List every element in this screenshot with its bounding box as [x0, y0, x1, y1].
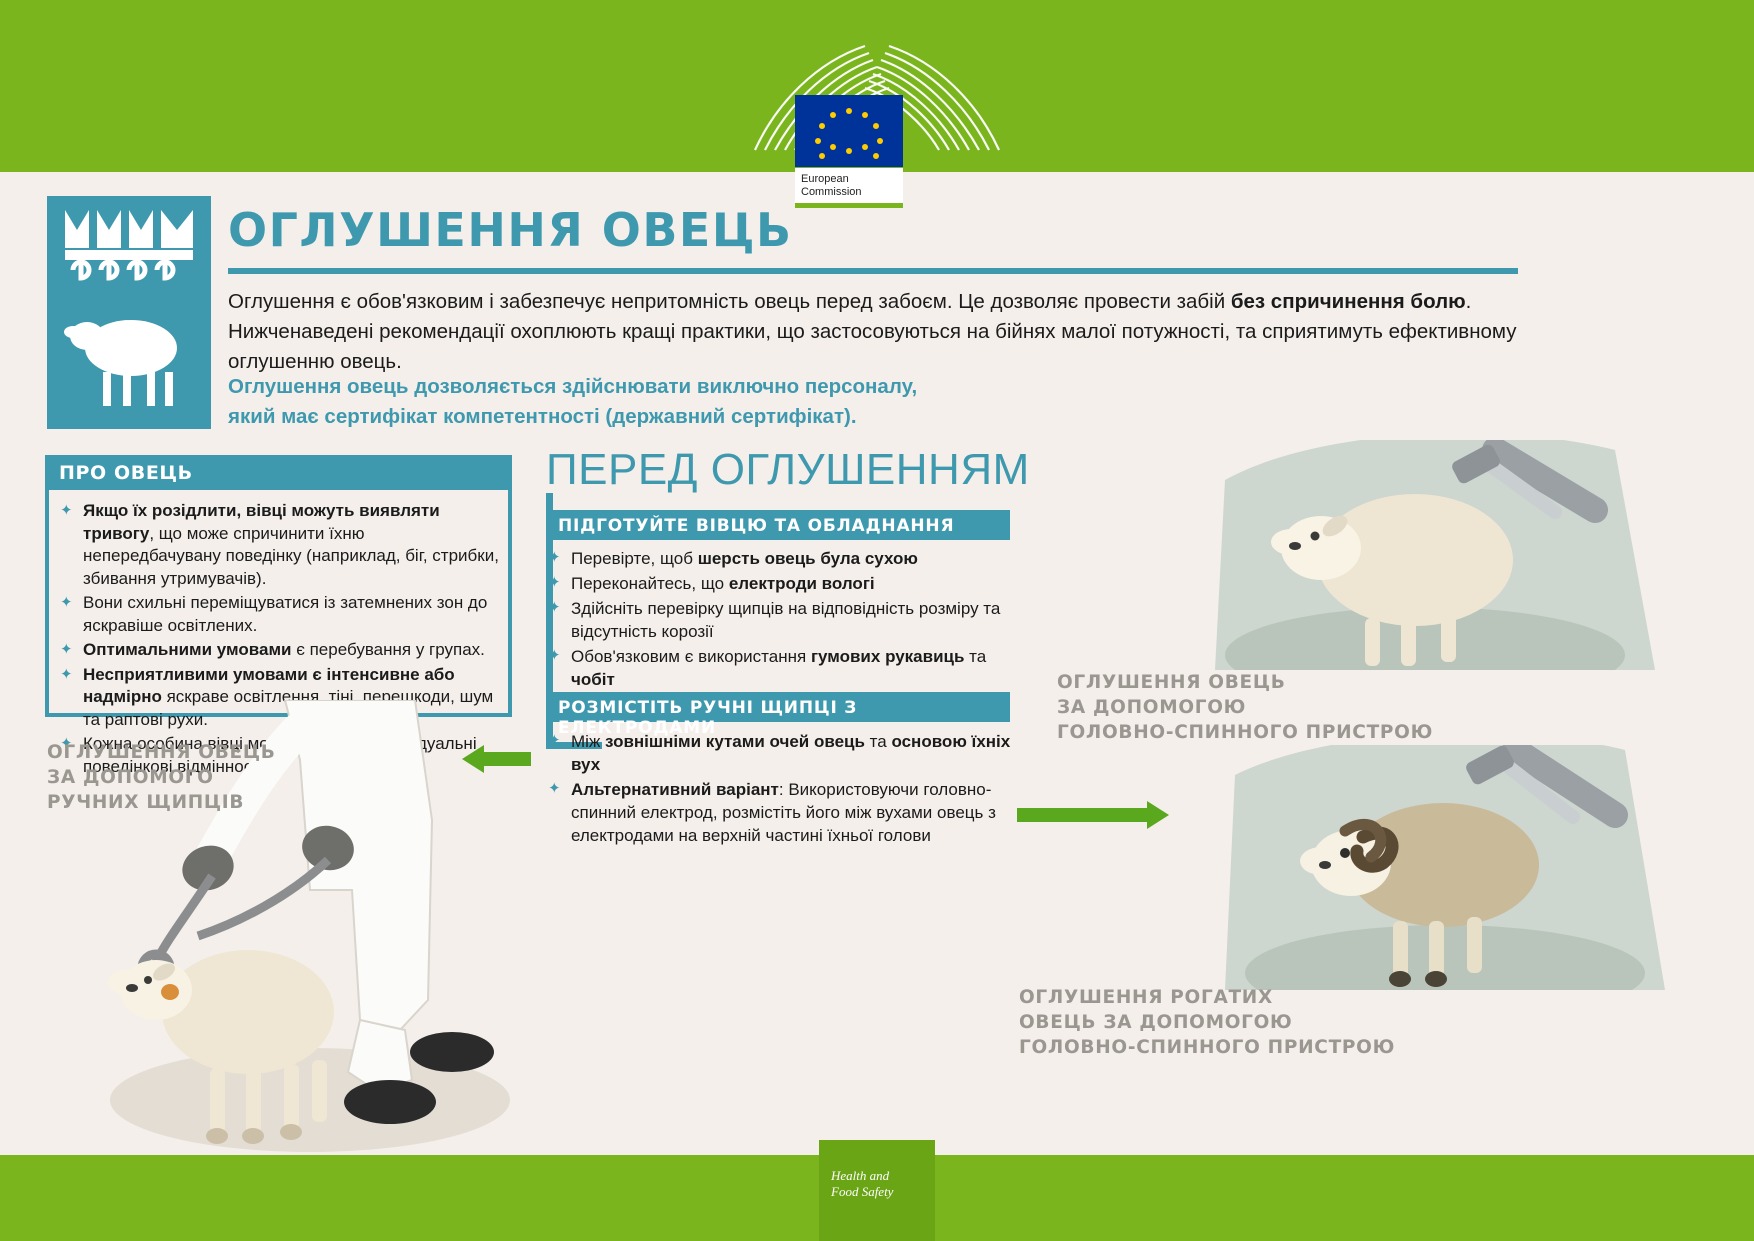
arrow-right-head-icon	[1147, 801, 1169, 829]
list-item: ✦Переконайтесь, що електроди вологі	[548, 572, 1023, 595]
list-item-text: Між	[571, 732, 605, 751]
intro-bold: без спричинення болю	[1231, 290, 1466, 313]
list-item-bold: зовнішніми кутами очей овець	[605, 732, 865, 751]
eu-commission-emblem: European Commission	[747, 0, 1007, 230]
list-item-bold: електроди вологі	[729, 574, 875, 593]
list-item-bold: шерсть овець була сухою	[698, 549, 918, 568]
photo-head-to-back-device	[1195, 440, 1725, 670]
bullet-arrow-icon: ✦	[60, 596, 74, 609]
title-divider	[228, 268, 1518, 274]
list-item-bold: чобіт	[571, 670, 615, 689]
place-tongs-heading: РОЗМІСТІТЬ РУЧНІ ЩИПЦІ З ЕЛЕКТРОДАМИ	[546, 692, 1010, 722]
eu-label-line2: Commission	[801, 186, 897, 199]
list-item-text: є перебування у групах.	[291, 640, 484, 659]
caption-line: ГОЛОВНО-СПИННОГО ПРИСТРОЮ	[1019, 1035, 1439, 1060]
bullet-arrow-icon: ✦	[60, 668, 74, 681]
caption-line: ЗА ДОПОМОГОЮ	[1057, 695, 1457, 720]
about-sheep-heading: ПРО ОВЕЦЬ	[45, 455, 512, 490]
bullet-arrow-icon: ✦	[60, 504, 74, 517]
place-tongs-list: ✦Між зовнішніми кутами очей овець та осн…	[548, 730, 1023, 847]
list-item-text: та	[964, 647, 986, 666]
slaughterhouse-icon	[47, 196, 211, 429]
caption-line: ЗА ДОПОМОГО	[47, 765, 337, 790]
list-item: ✦Оптимальними умовами є перебування у гр…	[60, 639, 500, 662]
caption-line: ОГЛУШЕННЯ ОВЕЦЬ	[1057, 670, 1457, 695]
list-item: ✦Вони схильні переміщуватися із затемнен…	[60, 592, 500, 637]
bullet-arrow-icon: ✦	[548, 601, 562, 614]
list-item-bold: Оптимальними умовами	[83, 640, 291, 659]
eu-commission-label: European Commission	[795, 168, 903, 206]
list-item: ✦Альтернативний варіант: Використовуючи …	[548, 778, 1023, 847]
list-item-text: Вони схильні переміщуватися із затемнени…	[83, 593, 487, 635]
caption-line: ОГЛУШЕННЯ ОВЕЦЬ	[47, 740, 337, 765]
list-item-bold: Альтернативний варіант	[571, 780, 779, 799]
list-item: ✦Здійсніть перевірку щипців на відповідн…	[548, 597, 1023, 643]
eu-label-underline	[795, 203, 903, 208]
page-title: ОГЛУШЕННЯ ОВЕЦЬ	[228, 203, 793, 257]
caption-line: ГОЛОВНО-СПИННОГО ПРИСТРОЮ	[1057, 720, 1457, 745]
before-stunning-title: ПЕРЕД ОГЛУШЕННЯМ	[546, 445, 1030, 495]
arrow-left-head-icon	[462, 745, 484, 773]
footer-dg-label: Health and Food Safety	[831, 1168, 931, 1200]
certification-note: Оглушення овець дозволяється здійснювати…	[228, 372, 1228, 432]
caption-head-to-back: ОГЛУШЕННЯ ОВЕЦЬЗА ДОПОМОГОЮГОЛОВНО-СПИНН…	[1057, 670, 1457, 745]
intro-text-1: Оглушення є обов'язковим і забезпечує не…	[228, 290, 1231, 313]
list-item-text: Здійсніть перевірку щипців на відповідні…	[571, 599, 1000, 641]
place-tongs-body: ✦Між зовнішніми кутами очей овець та осн…	[548, 730, 1023, 849]
caption-line: ОГЛУШЕННЯ РОГАТИХ	[1019, 985, 1439, 1010]
list-item-text: та	[865, 732, 892, 751]
arrow-left-shaft	[483, 752, 531, 766]
list-item-text: Перевірте, щоб	[571, 549, 698, 568]
arrow-right-shaft	[1017, 808, 1147, 822]
bullet-arrow-icon: ✦	[548, 551, 562, 564]
bullet-arrow-icon: ✦	[60, 643, 74, 656]
caption-line: РУЧНИХ ЩИПЦІВ	[47, 790, 337, 815]
footer-line2: Food Safety	[831, 1184, 931, 1200]
infographic-page: European Commission	[0, 0, 1754, 1241]
caption-handheld-tongs: ОГЛУШЕННЯ ОВЕЦЬЗА ДОПОМОГОРУЧНИХ ЩИПЦІВ	[47, 740, 337, 815]
eu-flag-icon	[795, 95, 903, 167]
bullet-arrow-icon: ✦	[548, 734, 562, 747]
caption-horned-head-to-back: ОГЛУШЕННЯ РОГАТИХОВЕЦЬ ЗА ДОПОМОГОЮГОЛОВ…	[1019, 985, 1439, 1060]
list-item: ✦Якщо їх розідлити, вівці можуть виявлят…	[60, 500, 500, 590]
photo-horned-sheep-device	[1195, 745, 1725, 990]
bullet-arrow-icon: ✦	[548, 649, 562, 662]
intro-paragraph: Оглушення є обов'язковим і забезпечує не…	[228, 287, 1520, 377]
certification-note-line2: який має сертифікат компетентності (держ…	[228, 402, 1228, 432]
list-item: ✦Між зовнішніми кутами очей овець та осн…	[548, 730, 1023, 776]
list-item: ✦Обов'язковим є використання гумових рук…	[548, 645, 1023, 691]
caption-line: ОВЕЦЬ ЗА ДОПОМОГОЮ	[1019, 1010, 1439, 1035]
certification-note-line1: Оглушення овець дозволяється здійснювати…	[228, 372, 1228, 402]
prepare-sheep-heading: ПІДГОТУЙТЕ ВІВЦЮ ТА ОБЛАДНАННЯ	[546, 510, 1010, 540]
bullet-arrow-icon: ✦	[548, 576, 562, 589]
prepare-sheep-body: ✦Перевірте, щоб шерсть овець була сухою✦…	[548, 547, 1023, 693]
list-item-text: Переконайтесь, що	[571, 574, 729, 593]
list-item-text: Обов'язковим є використання	[571, 647, 811, 666]
bullet-arrow-icon: ✦	[548, 782, 562, 795]
prepare-sheep-list: ✦Перевірте, щоб шерсть овець була сухою✦…	[548, 547, 1023, 691]
footer-line1: Health and	[831, 1168, 931, 1184]
eu-label-line1: European	[801, 173, 897, 186]
list-item-bold: гумових рукавиць	[811, 647, 965, 666]
list-item: ✦Перевірте, щоб шерсть овець була сухою	[548, 547, 1023, 570]
